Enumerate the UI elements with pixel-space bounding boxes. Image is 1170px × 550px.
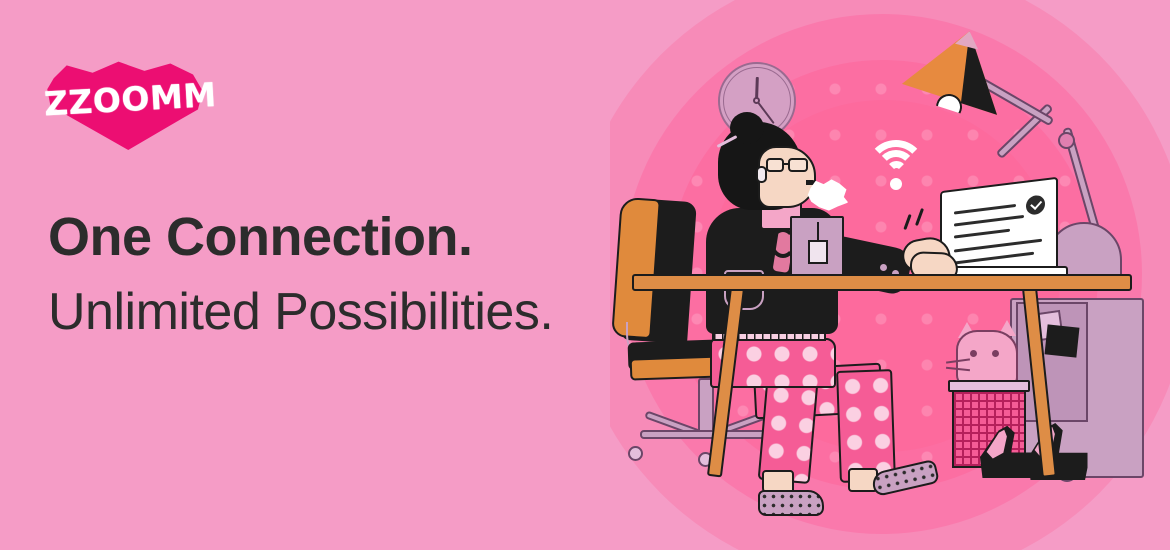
storage-basket-rim [948,380,1030,392]
hero-illustration [610,0,1170,550]
screen-text-line [954,252,1034,265]
brand-logo[interactable]: ZZOOMM [44,58,206,150]
clock-pivot [753,97,760,104]
cat-eye-right [992,350,999,357]
cat-eye-left [970,350,977,357]
tea-bag-tag [808,240,828,264]
screen-text-line [954,239,1042,253]
headline-line-1: One Connection. [48,206,553,270]
verified-check-icon [1026,194,1045,215]
headline-line-2: Unlimited Possibilities. [48,282,553,343]
wifi-dot [890,178,902,190]
sticky-note-dark [1045,324,1080,357]
glasses-bridge [783,163,790,165]
pants-back-leg [836,369,896,483]
screen-text-line [954,215,1024,227]
glasses-lens-right [788,158,808,172]
coffee-mug [790,216,844,278]
wifi-icon [866,140,926,188]
lamp-pivot-joint [1058,132,1075,149]
tea-bag-string [817,222,819,242]
hero-banner: ZZOOMM One Connection. Unlimited Possibi… [0,0,1170,550]
chair-caster-left [628,446,643,461]
screen-text-line [954,229,1010,239]
page-title: One Connection. Unlimited Possibilities. [48,206,553,343]
screen-text-line [954,204,1016,215]
chair-base [640,430,774,439]
slipper-front [758,490,824,516]
desk-top [632,274,1132,291]
glasses-lens-left [766,158,784,172]
sleeve-button-1 [880,264,887,271]
hair-bun [730,112,764,144]
pants-front-leg [758,378,819,484]
